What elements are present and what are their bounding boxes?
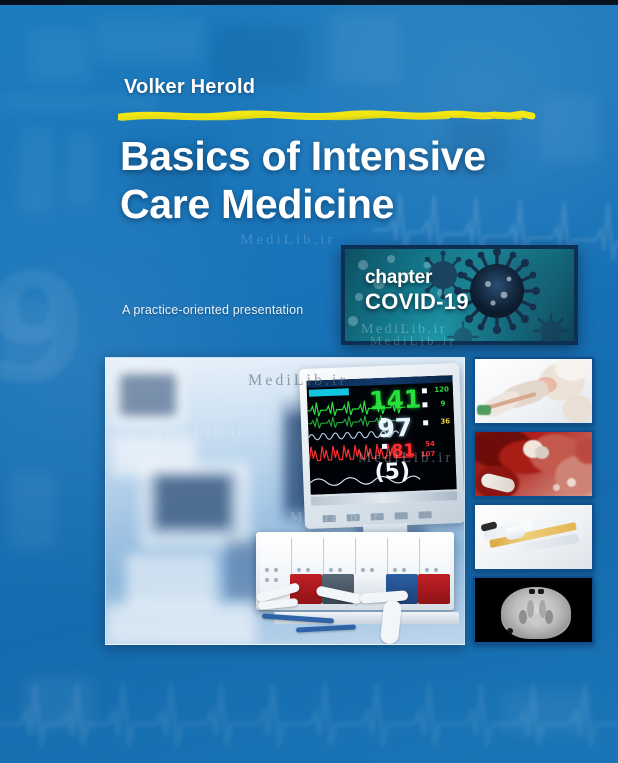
monitor-button-4[interactable] <box>395 512 408 519</box>
monitor-button-3[interactable] <box>371 513 384 520</box>
icu-room-photo: 141 97 81 (5) 120 9 36 54 107 <box>105 357 465 645</box>
background-ghost-digit: 9 <box>0 255 82 405</box>
vital-small-pulse-sub: 36 <box>440 417 450 425</box>
vital-small-map-sub: 107 <box>421 450 436 459</box>
syringe-red-2 <box>418 574 450 604</box>
catheter-photo <box>473 503 594 571</box>
yellow-brush-stroke <box>118 110 536 123</box>
covid-topic-label: COVID-19 <box>365 290 469 315</box>
vital-small-hr-unit: 120 <box>434 385 449 394</box>
patient-monitor: 141 97 81 (5) 120 9 36 54 107 <box>299 363 465 529</box>
vital-small-nibp-sub: 54 <box>425 440 435 448</box>
thumbnail-strip <box>473 357 594 645</box>
endoscopy-photo <box>473 430 594 498</box>
page-title: Basics of Intensive Care Medicine <box>120 130 560 231</box>
monitor-marker-3 <box>381 418 386 423</box>
vital-heart-rate: 141 <box>369 386 422 413</box>
title-line-2: Care Medicine <box>120 178 560 230</box>
monitor-button-1[interactable] <box>323 515 336 522</box>
covid-chapter-badge: chapter COVID-19 MediLib.ir <box>341 245 578 345</box>
author-name: Volker Herold <box>124 76 255 99</box>
title-line-1: Basics of Intensive <box>120 130 560 182</box>
airway-manikin-photo <box>473 357 594 425</box>
iv-tube-blue-2 <box>296 624 356 632</box>
cover-subtitle: A practice-oriented presentation <box>122 303 303 317</box>
monitor-button-5[interactable] <box>419 511 432 518</box>
covid-chapter-label: chapter <box>365 267 469 288</box>
monitor-marker-5 <box>382 444 387 449</box>
vital-arterial-pressure: 81 <box>391 443 415 461</box>
vital-cvp: (5) <box>374 461 410 484</box>
photo-collage: 141 97 81 (5) 120 9 36 54 107 <box>105 357 594 645</box>
monitor-marker-4 <box>423 420 428 425</box>
infusion-pump-stack <box>256 526 465 645</box>
background-ecg-bottom <box>0 650 618 763</box>
covid-badge-text: chapter COVID-19 <box>365 267 469 315</box>
monitor-button-2[interactable] <box>347 514 360 521</box>
iv-tube-5 <box>380 599 403 645</box>
monitor-screen: 141 97 81 (5) 120 9 36 54 107 <box>306 375 456 495</box>
vital-small-spo2-sub: 9 <box>440 400 445 408</box>
book-cover: 9 Volker Herold Basics of Intensive Care… <box>0 0 618 763</box>
monitor-marker-2 <box>422 402 427 407</box>
covid-watermark: MediLib.ir <box>361 322 447 338</box>
top-edge-band <box>0 0 618 5</box>
brain-ct-photo <box>473 576 594 644</box>
monitor-marker-1 <box>422 388 427 393</box>
